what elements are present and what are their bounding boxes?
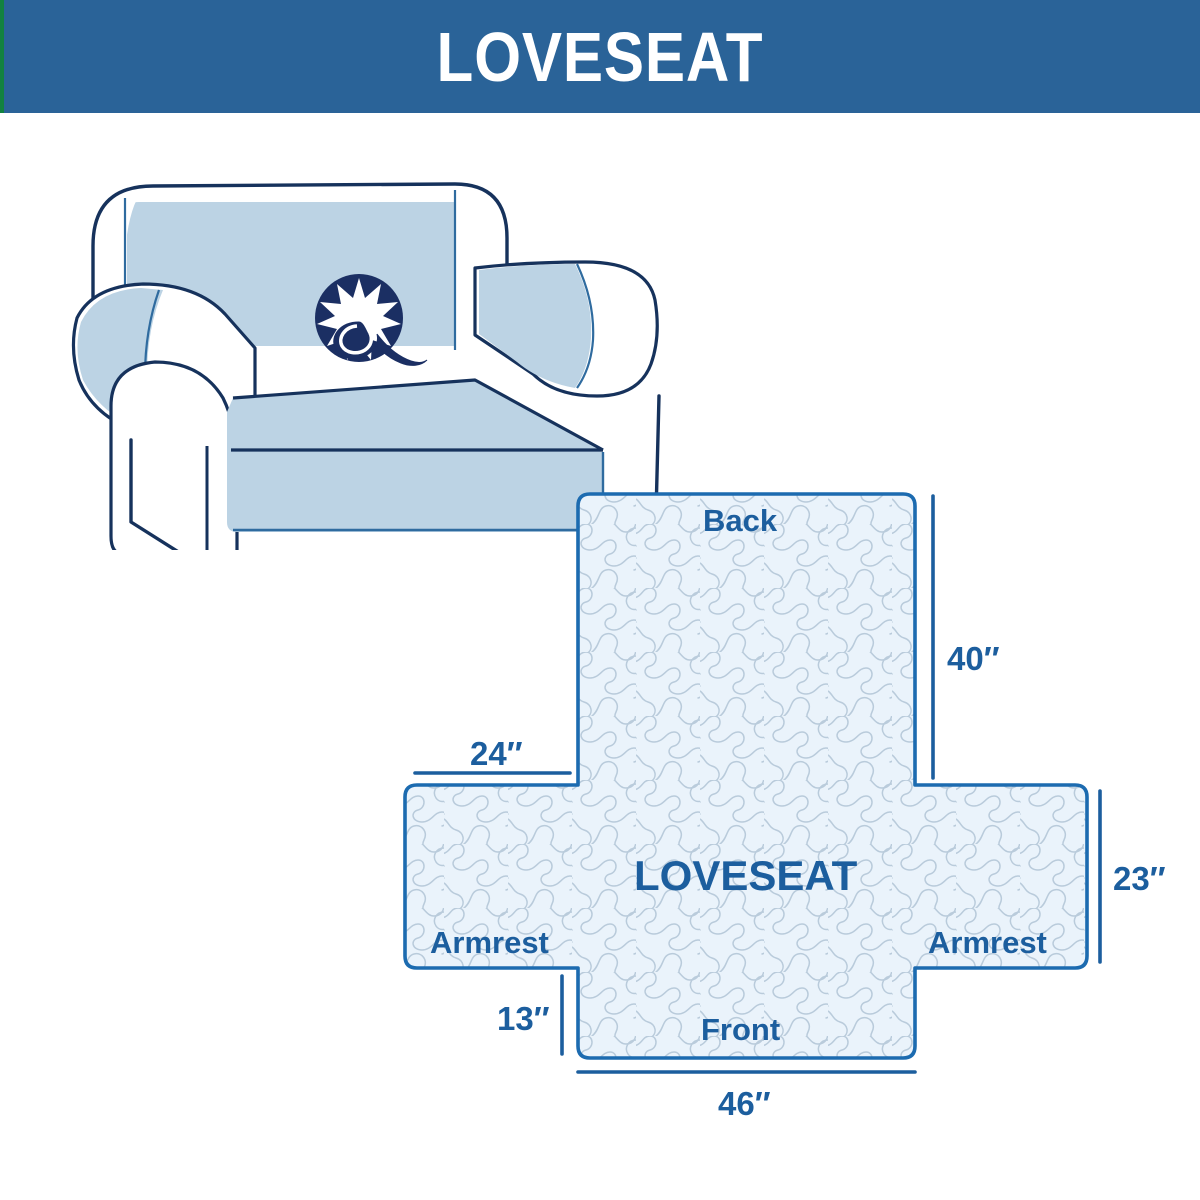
dimension-label-back-width: 24″ xyxy=(470,735,523,773)
page-title: LOVESEAT xyxy=(84,0,1116,113)
dimension-label-front-width: 46″ xyxy=(718,1085,771,1123)
sofa-right-armrest-cover xyxy=(479,264,591,388)
accent-stripe xyxy=(0,0,4,113)
panel-label-armrest-right: Armrest xyxy=(928,925,1047,961)
product-dimension-diagram-page: LOVESEAT xyxy=(0,0,1200,1200)
panel-label-back: Back xyxy=(703,503,777,539)
dimension-label-armrest-height: 23″ xyxy=(1113,860,1166,898)
dimension-label-back-height: 40″ xyxy=(947,640,1000,678)
panel-label-center: LOVESEAT xyxy=(634,852,857,900)
dimension-label-front-height: 13″ xyxy=(497,1000,550,1038)
panel-label-front: Front xyxy=(701,1012,780,1048)
slipcover-cross-outline xyxy=(405,494,1087,1058)
panel-label-armrest-left: Armrest xyxy=(430,925,549,961)
